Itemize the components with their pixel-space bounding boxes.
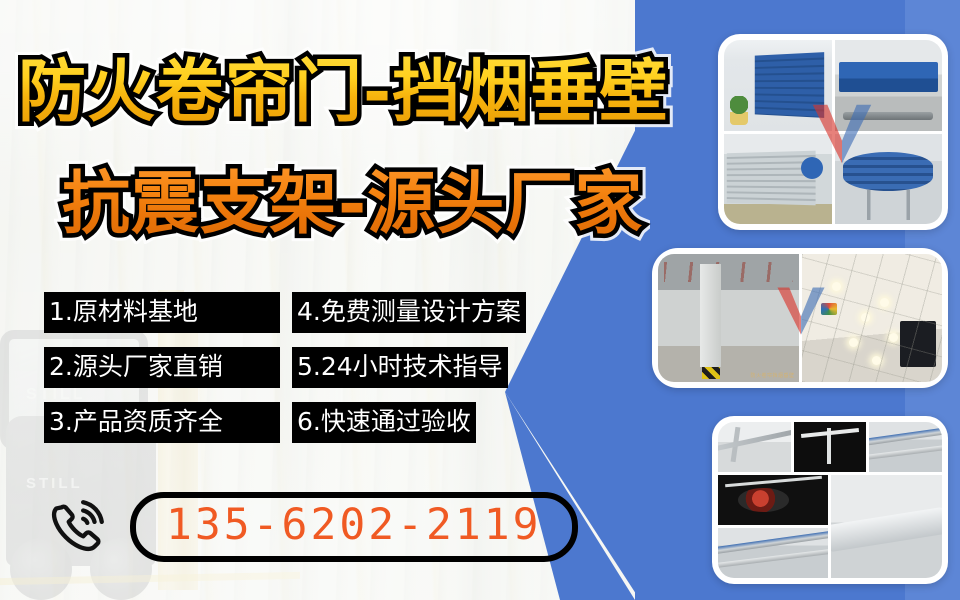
photo-caption: 防火卷帘挡烟垂壁 (750, 372, 794, 379)
photo-bracket-fan-mount (718, 475, 828, 525)
ceiling-lamp (880, 298, 889, 307)
contact-phone-row[interactable]: 135-6202-2119 (44, 492, 578, 562)
ceiling-lamp (872, 356, 881, 365)
wall-mounted-screen (900, 321, 937, 367)
collage-grid: 防火卷帘挡烟垂壁 (658, 254, 942, 382)
collage-grid (724, 40, 942, 224)
headline-secondary: 抗震支架-源头厂家 抗震支架-源头厂家 抗震支架-源头厂家 (62, 148, 643, 247)
photo-blue-coiled-shutter-roll (835, 134, 943, 225)
headline-primary: 防火卷帘门-挡烟垂壁 防火卷帘门-挡烟垂壁 防火卷帘门-挡烟垂壁 (18, 36, 668, 135)
phone-call-icon (44, 494, 110, 560)
photo-parking-garage-pipes: 防火卷帘挡烟垂壁 (658, 254, 799, 382)
ceiling-lamp (861, 313, 870, 322)
ceiling-lamp (889, 333, 898, 342)
feature-item-2: 2.源头厂家直销 (44, 347, 280, 388)
headline-secondary-text: 抗震支架-源头厂家 (62, 148, 643, 247)
collage-seismic-brackets (712, 416, 948, 584)
feature-list: 1.原材料基地 4.免费测量设计方案 2.源头厂家直销 5.24小时技术指导 3… (44, 292, 564, 457)
photo-shutter-manufacturing-machine (835, 40, 943, 131)
photo-bracket-ceiling-rail (718, 422, 791, 472)
collage-grid (718, 422, 942, 578)
photo-ceiling-lights (802, 254, 943, 382)
feature-item-1: 1.原材料基地 (44, 292, 280, 333)
feature-item-6: 6.快速通过验收 (292, 402, 476, 443)
colorful-pinwheel-decor (821, 303, 837, 315)
photo-bracket-duct-clamp (869, 422, 942, 472)
photo-blue-fire-shutter-door (724, 40, 832, 131)
photo-bracket-dark-pipe-mount (794, 422, 867, 472)
phone-number-box[interactable]: 135-6202-2119 (130, 492, 578, 562)
feature-row: 1.原材料基地 4.免费测量设计方案 (44, 292, 564, 333)
headline-primary-text: 防火卷帘门-挡烟垂壁 (18, 36, 668, 135)
photo-steel-rolling-shutter (724, 134, 832, 225)
phone-number: 135-6202-2119 (166, 502, 542, 548)
ceiling-lamp (832, 282, 841, 291)
feature-item-4: 4.免费测量设计方案 (292, 292, 526, 333)
collage-installation-sites: 防火卷帘挡烟垂壁 (652, 248, 948, 388)
feature-item-3: 3.产品资质齐全 (44, 402, 280, 443)
feature-item-1-label: 1.原材料基地 (49, 299, 198, 324)
hazard-stripe-marking (702, 359, 720, 379)
feature-item-3-label: 3.产品资质齐全 (49, 409, 223, 434)
photo-bracket-duct-run (718, 528, 828, 578)
advertisement-banner: STILL STILL 防火卷帘门-挡烟垂壁 防火卷帘门-挡烟垂壁 防火卷帘门-… (0, 0, 960, 600)
feature-item-5: 5.24小时技术指导 (292, 347, 508, 388)
photo-bracket-overhead-truss (831, 475, 942, 578)
feature-row: 3.产品资质齐全 6.快速通过验收 (44, 402, 564, 443)
collage-fire-shutter-doors (718, 34, 948, 230)
ceiling-lamp (849, 338, 858, 347)
feature-row: 2.源头厂家直销 5.24小时技术指导 (44, 347, 564, 388)
feature-item-2-label: 2.源头厂家直销 (49, 354, 223, 379)
